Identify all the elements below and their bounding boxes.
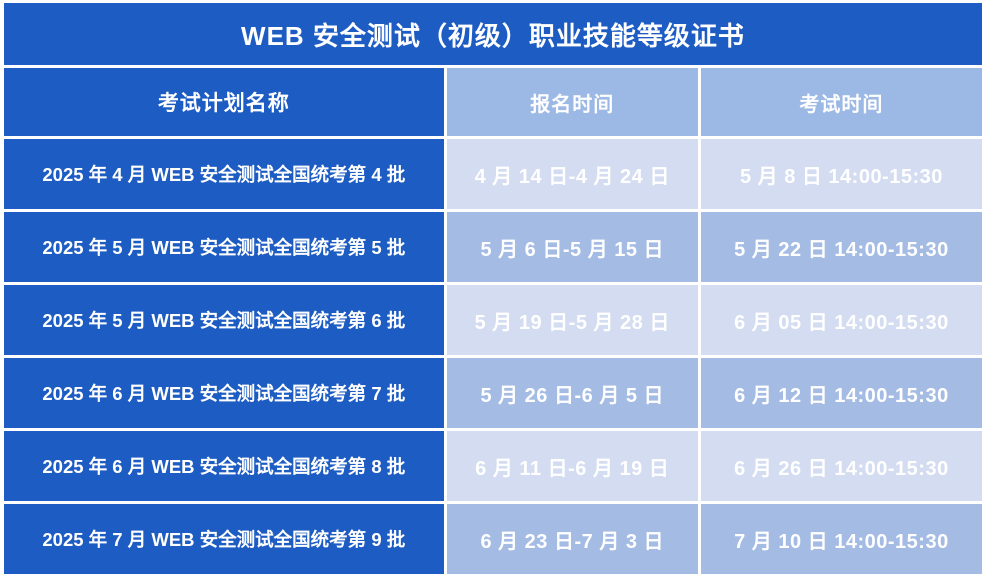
column-header-plan-name: 考试计划名称 xyxy=(4,68,444,136)
column-header-exam-time: 考试时间 xyxy=(701,68,982,136)
cell-registration-time: 4 月 14 日-4 月 24 日 xyxy=(447,139,698,209)
table-row: 2025 年 7 月 WEB 安全测试全国统考第 9 批 6 月 23 日-7 … xyxy=(4,504,982,574)
cell-plan-name: 2025 年 5 月 WEB 安全测试全国统考第 6 批 xyxy=(4,285,444,355)
cell-exam-time: 5 月 8 日 14:00-15:30 xyxy=(701,139,982,209)
cell-registration-time: 5 月 19 日-5 月 28 日 xyxy=(447,285,698,355)
cell-exam-time: 7 月 10 日 14:00-15:30 xyxy=(701,504,982,574)
cell-registration-time: 5 月 6 日-5 月 15 日 xyxy=(447,212,698,282)
cell-exam-time: 6 月 26 日 14:00-15:30 xyxy=(701,431,982,501)
table-row: 2025 年 5 月 WEB 安全测试全国统考第 6 批 5 月 19 日-5 … xyxy=(4,285,982,355)
table-row: 2025 年 5 月 WEB 安全测试全国统考第 5 批 5 月 6 日-5 月… xyxy=(4,212,982,282)
cell-registration-time: 5 月 26 日-6 月 5 日 xyxy=(447,358,698,428)
table-row: 2025 年 6 月 WEB 安全测试全国统考第 8 批 6 月 11 日-6 … xyxy=(4,431,982,501)
page-title: WEB 安全测试（初级）职业技能等级证书 xyxy=(241,16,745,53)
cell-plan-name: 2025 年 5 月 WEB 安全测试全国统考第 5 批 xyxy=(4,212,444,282)
cell-registration-time: 6 月 11 日-6 月 19 日 xyxy=(447,431,698,501)
table-row: 2025 年 6 月 WEB 安全测试全国统考第 7 批 5 月 26 日-6 … xyxy=(4,358,982,428)
cell-plan-name: 2025 年 7 月 WEB 安全测试全国统考第 9 批 xyxy=(4,504,444,574)
cell-registration-time: 6 月 23 日-7 月 3 日 xyxy=(447,504,698,574)
cell-exam-time: 5 月 22 日 14:00-15:30 xyxy=(701,212,982,282)
exam-schedule-table: WEB 安全测试（初级）职业技能等级证书 考试计划名称 报名时间 考试时间 20… xyxy=(4,3,982,563)
cell-exam-time: 6 月 05 日 14:00-15:30 xyxy=(701,285,982,355)
cell-plan-name: 2025 年 6 月 WEB 安全测试全国统考第 8 批 xyxy=(4,431,444,501)
cell-plan-name: 2025 年 4 月 WEB 安全测试全国统考第 4 批 xyxy=(4,139,444,209)
cell-exam-time: 6 月 12 日 14:00-15:30 xyxy=(701,358,982,428)
cell-plan-name: 2025 年 6 月 WEB 安全测试全国统考第 7 批 xyxy=(4,358,444,428)
table-row: 2025 年 4 月 WEB 安全测试全国统考第 4 批 4 月 14 日-4 … xyxy=(4,139,982,209)
table-header-row: 考试计划名称 报名时间 考试时间 xyxy=(4,68,982,136)
table-title-banner: WEB 安全测试（初级）职业技能等级证书 xyxy=(4,3,982,65)
column-header-registration-time: 报名时间 xyxy=(447,68,698,136)
